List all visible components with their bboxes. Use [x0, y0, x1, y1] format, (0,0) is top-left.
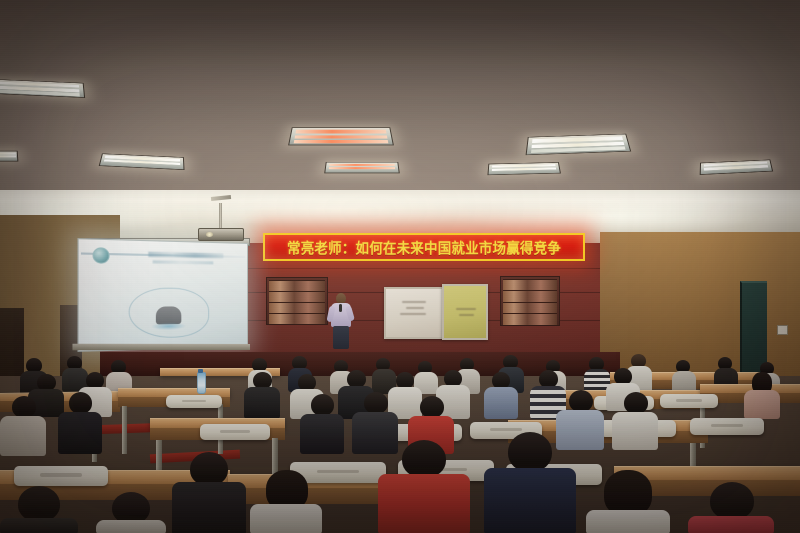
desk-leg [122, 406, 127, 454]
flipchart-writing [402, 301, 426, 303]
audience-member [96, 492, 166, 533]
event-banner: 常亮老师：如何在未来中国就业市场赢得竞争 [263, 233, 585, 261]
audience-head [311, 394, 334, 416]
presenter-trousers [333, 326, 349, 349]
recessed-fluorescent-troffer [487, 162, 561, 175]
audience-member [0, 396, 46, 454]
audience-member [484, 372, 518, 418]
lecture-seat [14, 466, 108, 486]
lecture-seat [660, 394, 718, 408]
microphone-icon [339, 304, 342, 312]
audience-member [172, 452, 246, 533]
recessed-fluorescent-troffer [324, 162, 400, 173]
water-bottle-on-desk [197, 372, 206, 394]
audience-member [378, 440, 470, 533]
audience-torso [484, 468, 576, 533]
audience-member [58, 392, 102, 452]
photo-display-board-right [500, 276, 560, 326]
audience-member [688, 482, 774, 533]
audience-head [508, 432, 552, 472]
audience-torso [300, 414, 344, 454]
lecture-seat [690, 418, 764, 435]
audience-member [484, 432, 576, 533]
projector-drop-pole [219, 203, 222, 231]
projection-screen-bottom-bar [72, 344, 250, 351]
flipchart-white [384, 287, 444, 339]
flipchart-writing [459, 314, 474, 316]
audience-torso [586, 510, 670, 533]
audience-torso [58, 412, 102, 454]
water-bottle-cap [198, 369, 203, 373]
audience-head [364, 392, 388, 414]
audience-head [18, 486, 60, 522]
recessed-fluorescent-troffer [0, 151, 18, 162]
audience-head [710, 482, 754, 520]
audience-torso [96, 520, 166, 533]
audience-member [744, 372, 780, 418]
audience-torso [688, 516, 774, 533]
audience-member [300, 394, 344, 452]
flipchart-writing [400, 313, 426, 315]
audience-member [250, 470, 322, 533]
lecture-seat [166, 395, 222, 408]
screen-glare [79, 239, 247, 350]
audience-member [586, 470, 670, 533]
audience-head [190, 452, 228, 486]
audience-member [612, 392, 658, 448]
event-banner-text: 常亮老师：如何在未来中国就业市场赢得竞争 [287, 236, 561, 258]
audience-member [672, 360, 696, 394]
recessed-fluorescent-troffer [526, 134, 632, 155]
wall-light-switch[interactable] [777, 325, 788, 335]
audience-torso [0, 518, 78, 533]
flipchart-yellow [442, 284, 488, 340]
audience-head [402, 440, 446, 478]
flipchart-writing [406, 307, 424, 309]
ceiling-mounted-projector [198, 228, 244, 241]
lecture-seat [200, 424, 270, 440]
audience-torso [244, 387, 280, 419]
audience-torso [744, 390, 780, 419]
audience-member [244, 372, 280, 418]
audience-torso [172, 482, 246, 533]
photo-display-board-left [266, 277, 328, 325]
audience-head [420, 396, 444, 418]
audience-torso [484, 387, 518, 419]
audience-torso [378, 474, 470, 533]
audience-torso [0, 416, 46, 456]
audience-head [569, 390, 593, 412]
audience-member [0, 486, 78, 533]
projector-lens-icon [206, 232, 213, 237]
flipchart-writing [456, 308, 476, 310]
audience-head [624, 392, 648, 414]
lecture-hall-photo: 常亮老师：如何在未来中国就业市场赢得竞争 [0, 0, 800, 533]
audience-torso [250, 504, 322, 533]
audience-head [12, 396, 36, 418]
presenter-speaking [328, 293, 354, 349]
audience-head [69, 392, 92, 414]
projection-screen [77, 238, 248, 352]
audience-torso [612, 412, 658, 450]
recessed-fluorescent-troffer [288, 127, 394, 145]
